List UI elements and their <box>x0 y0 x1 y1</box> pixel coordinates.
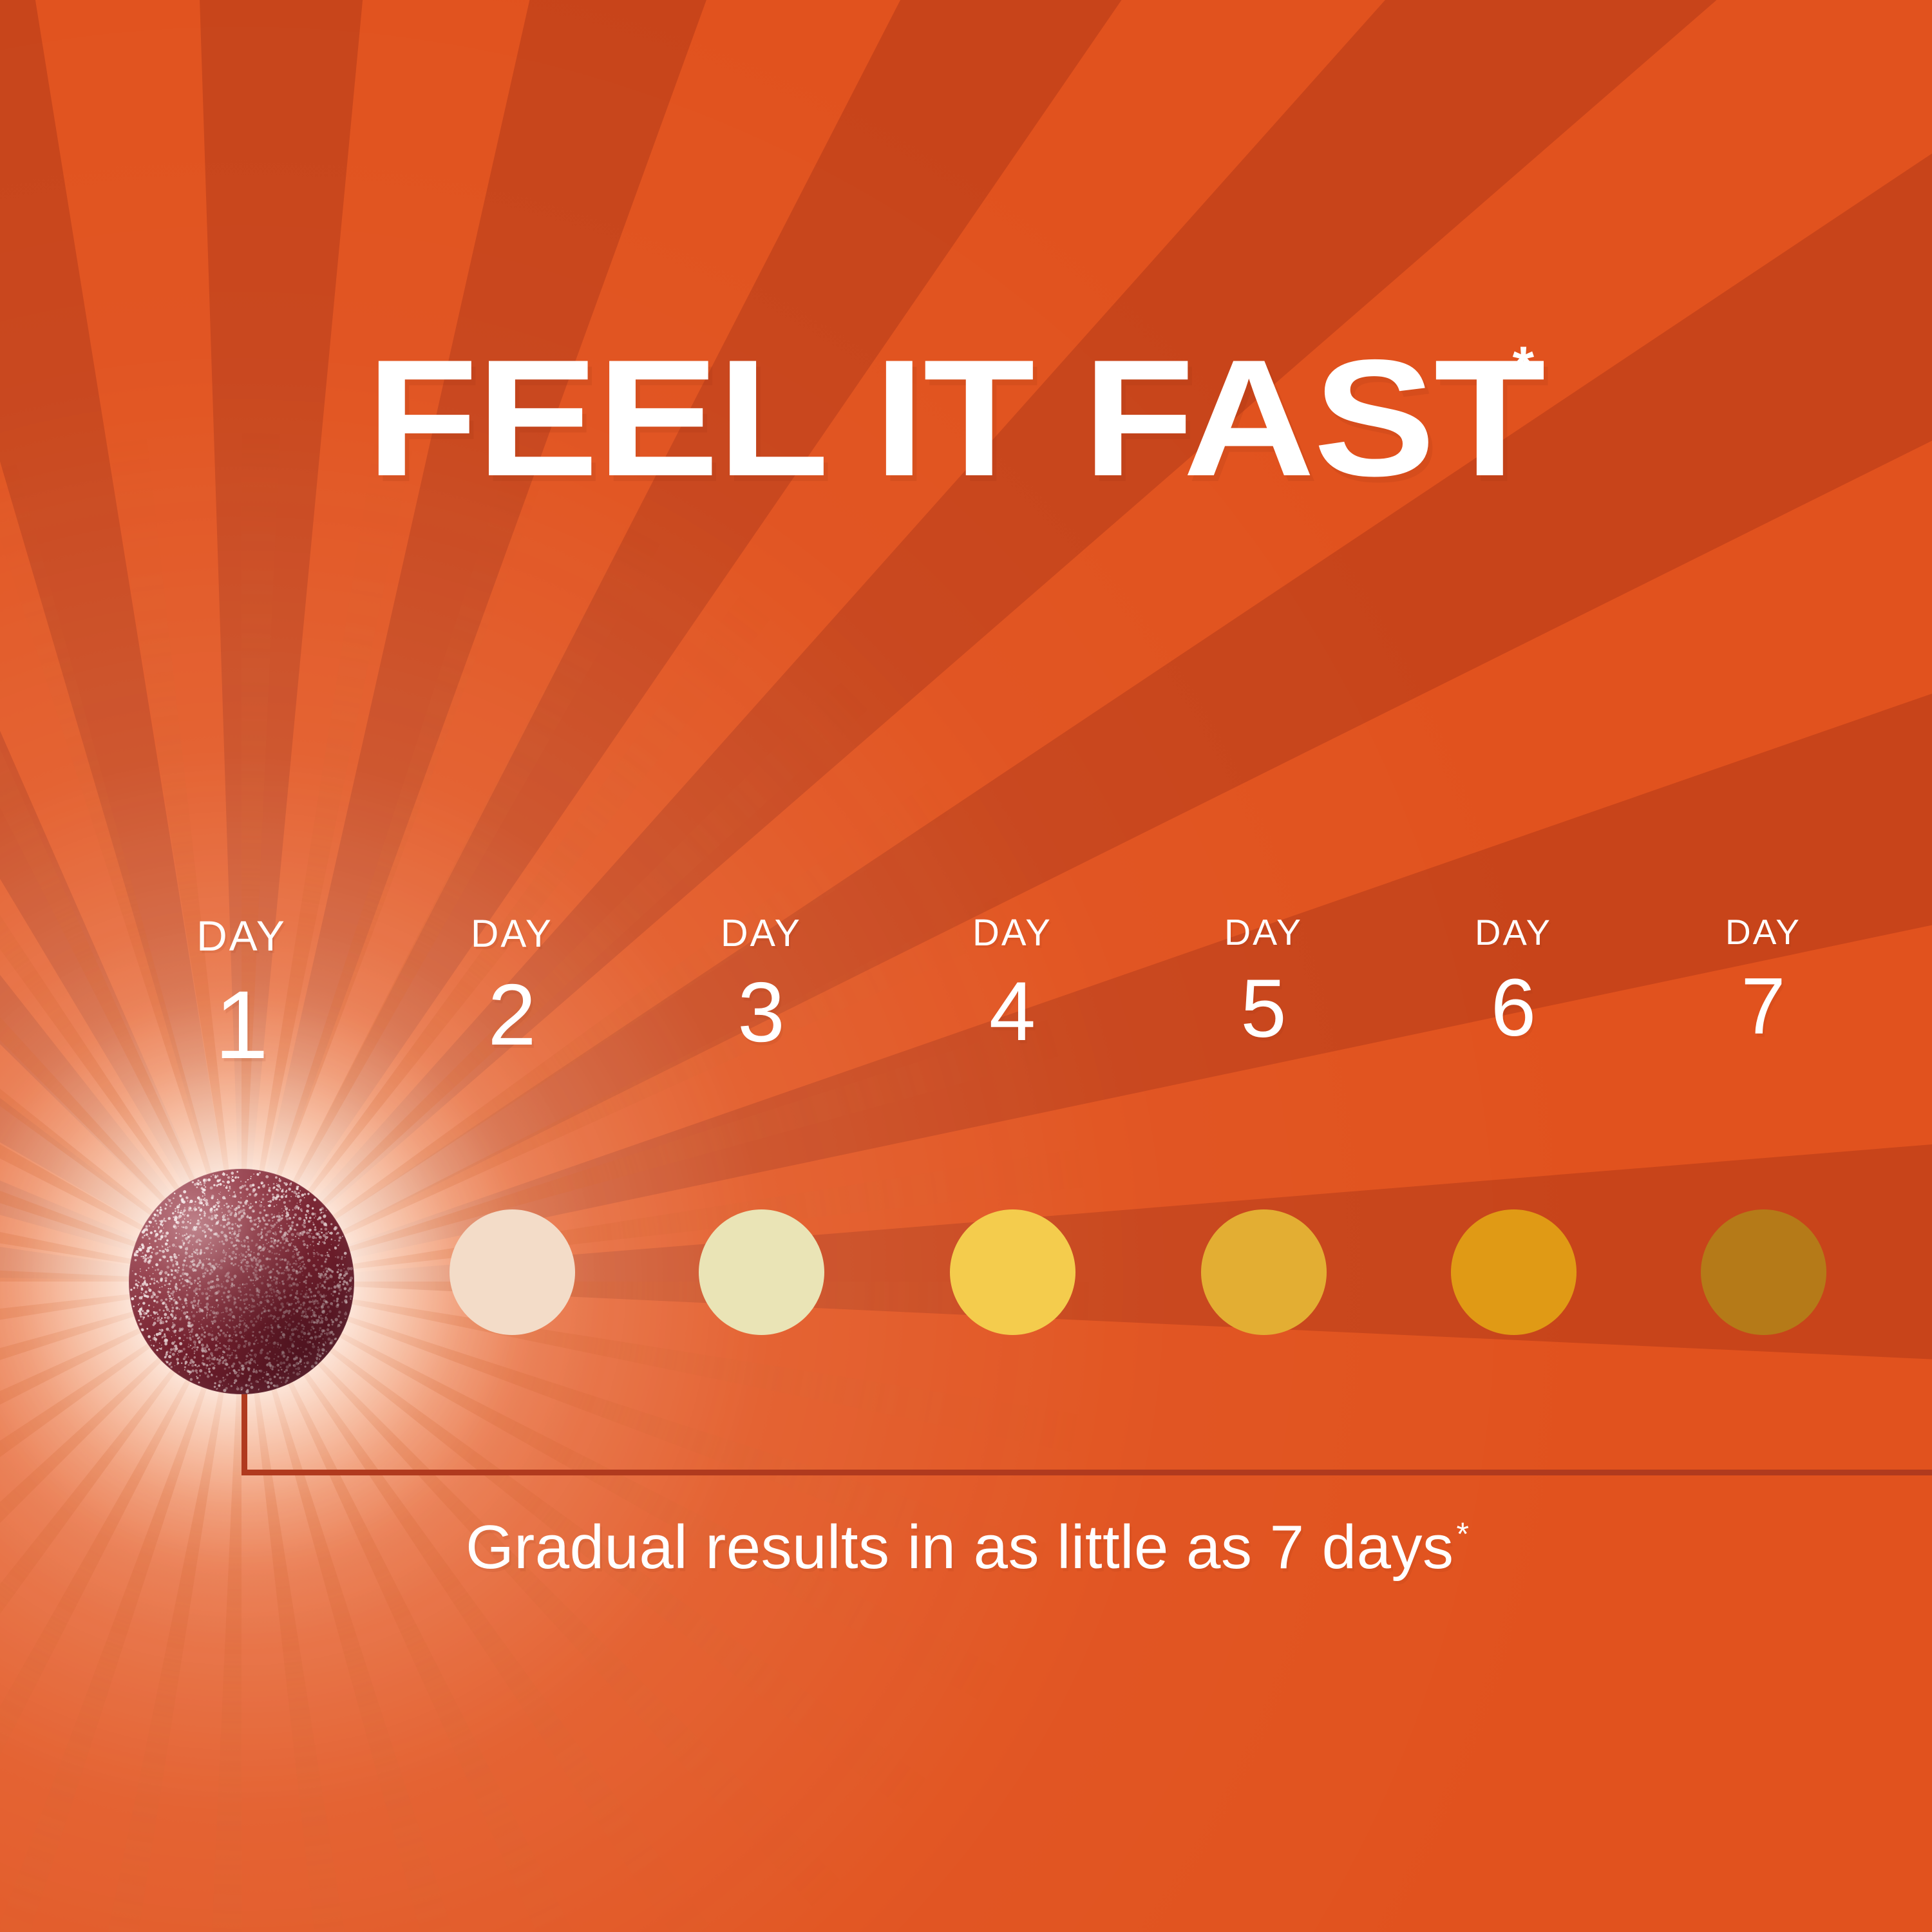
timeline-day-2: DAY2 <box>383 914 641 1058</box>
day-label-number: 1 <box>113 976 370 1073</box>
timeline-day-7: DAY7 <box>1634 914 1892 1046</box>
timeline-day-6: DAY6 <box>1385 914 1642 1048</box>
day-label-number: 2 <box>383 971 641 1058</box>
day-label-number: 6 <box>1385 967 1642 1048</box>
headline-footnote-asterisk: * <box>1513 339 1534 394</box>
timeline-day-1: DAY1 <box>113 914 370 1073</box>
seven-day-timeline: DAY1DAY2DAY3DAY4DAY5DAY6DAY7 <box>0 914 1932 1430</box>
day-label-number: 4 <box>884 969 1141 1053</box>
headline-row: FEEL IT FAST* <box>420 335 1512 501</box>
day-label-word: DAY <box>113 914 370 957</box>
timeline-day-5: DAY5 <box>1135 914 1392 1050</box>
timeline-day-3: DAY3 <box>632 914 890 1055</box>
caption-text: Gradual results in as little as 7 days <box>466 1517 1454 1578</box>
day-label-number: 7 <box>1634 967 1892 1046</box>
day-label-number: 5 <box>1135 968 1392 1050</box>
day-label-word: DAY <box>1135 914 1392 951</box>
page-title: FEEL IT FAST <box>366 335 1544 501</box>
timeline-day-4: DAY4 <box>884 914 1141 1053</box>
day-label-word: DAY <box>632 914 890 952</box>
day-label-word: DAY <box>1385 914 1642 951</box>
day-label-word: DAY <box>884 914 1141 952</box>
day-label-number: 3 <box>632 970 890 1055</box>
caption-block: Gradual results in as little as 7 days* <box>0 1517 1932 1578</box>
promo-graphic-canvas: FEEL IT FAST* DAY1DAY2DAY3DAY4DAY5DAY6DA… <box>0 0 1932 1932</box>
headline-block: FEEL IT FAST* <box>0 335 1932 501</box>
day-label-word: DAY <box>1634 914 1892 950</box>
caption-footnote-asterisk: * <box>1456 1518 1468 1550</box>
day-label-word: DAY <box>383 914 641 953</box>
